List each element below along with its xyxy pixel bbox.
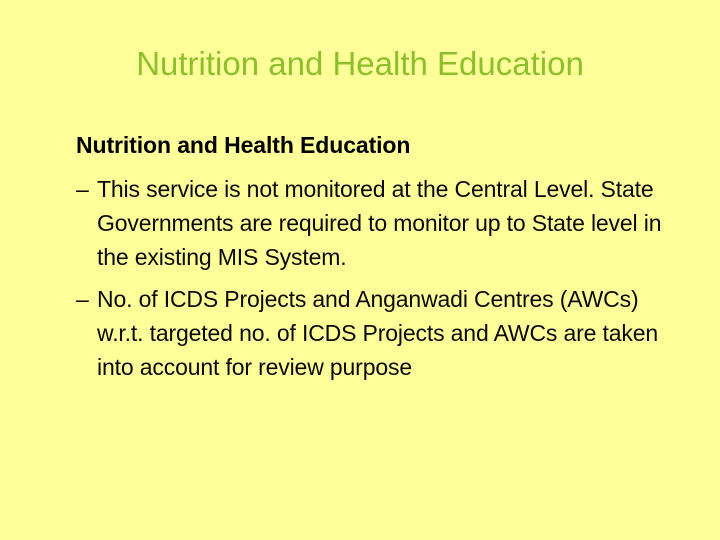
dash-bullet-icon: – <box>76 172 89 206</box>
slide-body: Nutrition and Health Education – This se… <box>76 130 691 384</box>
bullet-list: – This service is not monitored at the C… <box>76 172 691 384</box>
slide-canvas: Nutrition and Health Education Nutrition… <box>0 0 720 540</box>
slide-title: Nutrition and Health Education <box>0 44 720 84</box>
list-item-text: No. of ICDS Projects and Anganwadi Centr… <box>97 282 691 384</box>
list-item-text: This service is not monitored at the Cen… <box>97 172 691 274</box>
body-heading: Nutrition and Health Education <box>76 130 691 160</box>
dash-bullet-icon: – <box>76 282 89 316</box>
list-item: – No. of ICDS Projects and Anganwadi Cen… <box>76 282 691 384</box>
list-item: – This service is not monitored at the C… <box>76 172 691 274</box>
